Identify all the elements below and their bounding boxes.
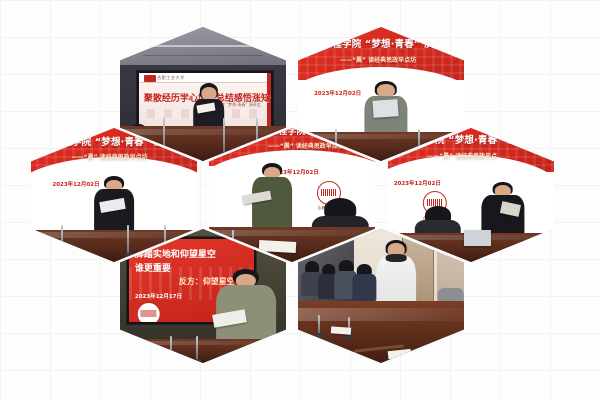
seated-person xyxy=(353,264,376,302)
slide-subtitle: ——“晨” 读经典思政早点坊 xyxy=(72,152,197,161)
desk-document xyxy=(331,326,351,334)
debate-topic-line2: 谁更重要 xyxy=(135,261,171,274)
microphone xyxy=(170,336,172,360)
microphone xyxy=(61,225,63,254)
slide-date: 2023年12月17日 xyxy=(135,292,182,300)
conference-table xyxy=(298,301,464,363)
slide-subtitle: ——“晨” 读经典思政早点坊 xyxy=(340,55,464,64)
slide-date: 2023年12月02日 xyxy=(314,89,361,97)
slide-date: 2023年12月02日 xyxy=(52,180,99,188)
microphone xyxy=(127,225,129,254)
microphone xyxy=(223,118,225,153)
university-logo-mark xyxy=(144,75,156,82)
microphone xyxy=(163,118,165,153)
university-logo-text: 合肥工业大学 xyxy=(157,75,185,81)
slide-date: 2023年12月02日 xyxy=(394,179,441,187)
torso xyxy=(353,274,376,301)
laptop-screen xyxy=(464,230,491,246)
desk-document xyxy=(259,240,296,253)
desk-document xyxy=(387,348,411,358)
microphone xyxy=(318,315,320,334)
university-logo: 合肥工业大学 xyxy=(132,302,165,324)
university-seal-icon xyxy=(137,302,161,324)
desk-reflection xyxy=(120,341,286,345)
desk-reflection xyxy=(31,232,197,237)
script-paper xyxy=(372,99,398,117)
slide-subtitle: ——“晨” 读经典思政早点 xyxy=(427,151,553,160)
conference-desk xyxy=(120,339,286,363)
slide-topbar: 合肥工业大学 xyxy=(139,73,271,83)
jacket-collar xyxy=(386,254,407,262)
ceiling xyxy=(120,27,286,67)
desk-reflection xyxy=(298,134,464,139)
slide-title: 自动化工程学院 “梦想·青春” 演讲会 xyxy=(298,36,464,50)
debate-topic-line1: 脚踏实地和仰望星空 xyxy=(135,247,216,260)
hexagon-photo-collage: 合肥工业大学 聚散经历学心境 总结感悟涨知识 自动化工程学院 “梦想·青春” 演… xyxy=(0,0,600,400)
desk-reflection xyxy=(120,129,286,135)
table-reflection xyxy=(298,308,464,322)
